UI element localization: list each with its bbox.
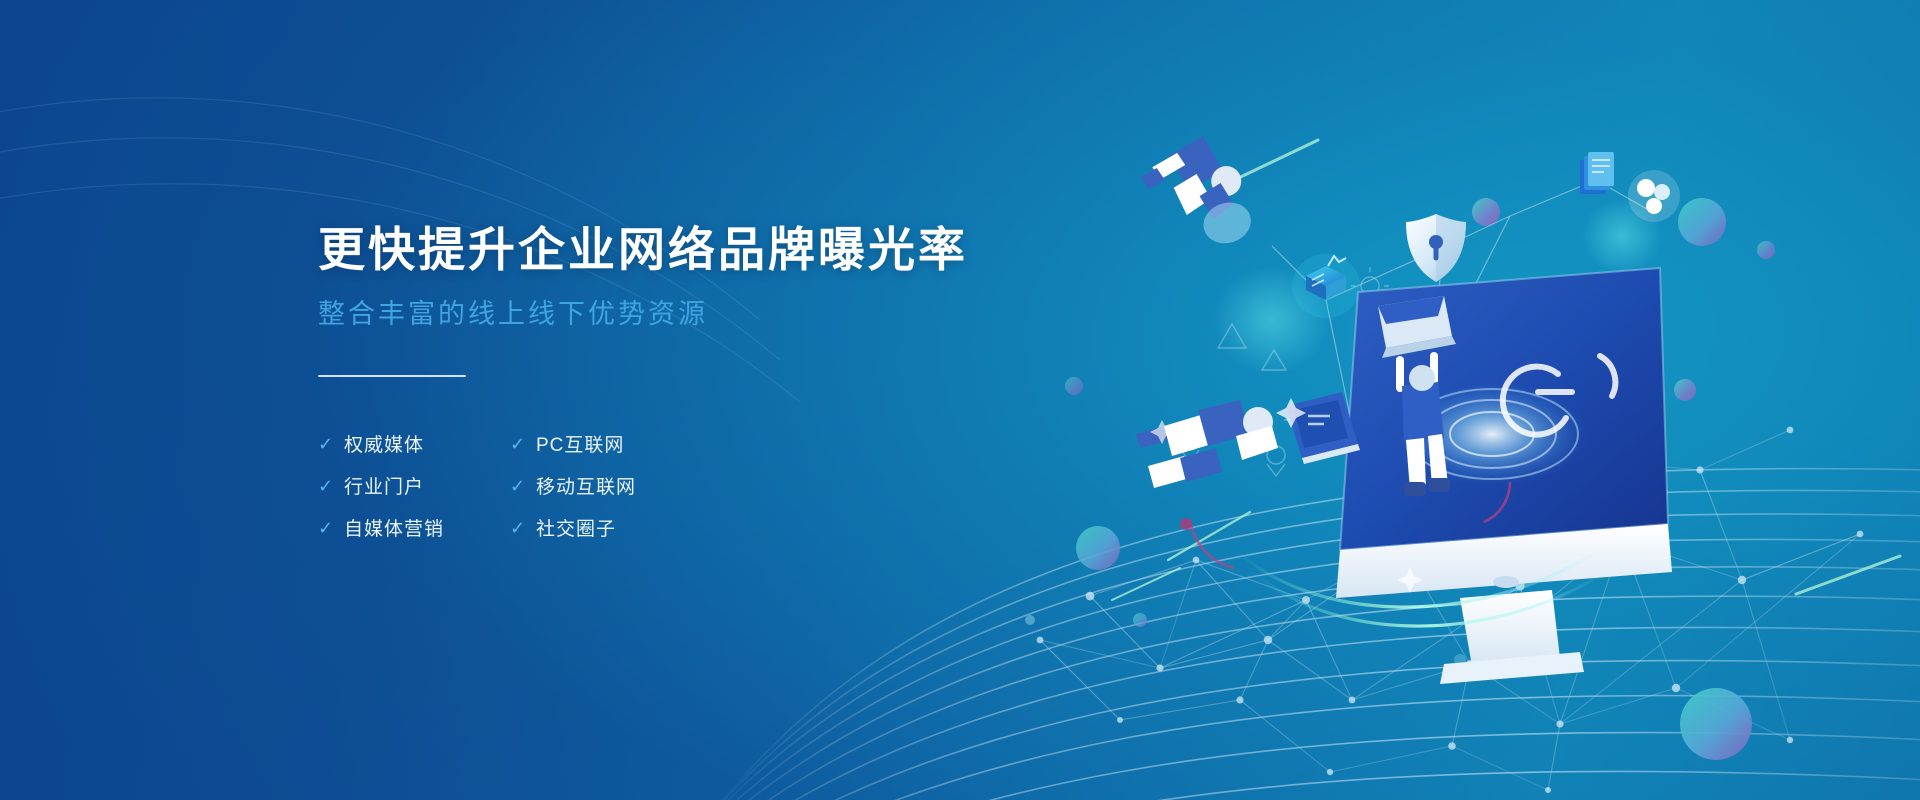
check-icon: ✓: [510, 519, 526, 537]
check-icon: ✓: [318, 519, 334, 537]
feature-item-industry-portal: ✓ 行业门户: [318, 472, 504, 499]
space-network-illustration: [1040, 120, 1760, 680]
feature-label: 自媒体营销: [344, 514, 444, 541]
astronaut-floating-left: [1135, 129, 1259, 263]
shield-lock-icon: [1406, 214, 1466, 282]
feature-item-social-circle: ✓ 社交圈子: [510, 514, 1038, 541]
astronaut-with-tablet: [1136, 392, 1360, 488]
check-icon: ✓: [510, 477, 526, 495]
feature-label: 行业门户: [344, 472, 424, 499]
share-node-icon: [1628, 170, 1680, 222]
page-title: 更快提升企业网络品牌曝光率: [318, 222, 1038, 277]
feature-item-pc-internet: ✓ PC互联网: [510, 430, 1038, 457]
accent-dot: [1180, 518, 1192, 530]
feature-item-authoritative-media: ✓ 权威媒体: [318, 430, 504, 457]
check-icon: ✓: [318, 477, 334, 495]
title-divider: [318, 375, 466, 377]
check-icon: ✓: [510, 435, 526, 453]
hero-copy: 更快提升企业网络品牌曝光率 整合丰富的线上线下优势资源 ✓ 权威媒体 ✓ PC互…: [318, 222, 1038, 549]
hero-banner: 更快提升企业网络品牌曝光率 整合丰富的线上线下优势资源 ✓ 权威媒体 ✓ PC互…: [0, 0, 1920, 800]
feature-item-mobile-internet: ✓ 移动互联网: [510, 472, 1038, 499]
feature-label: 权威媒体: [344, 430, 424, 457]
document-stack-icon: [1580, 152, 1614, 194]
feature-item-self-media-marketing: ✓ 自媒体营销: [318, 514, 504, 541]
feature-label: 社交圈子: [536, 514, 616, 541]
feature-label: PC互联网: [536, 430, 624, 457]
server-icon: [1292, 254, 1360, 318]
feature-label: 移动互联网: [536, 472, 636, 499]
page-subtitle: 整合丰富的线上线下优势资源: [318, 297, 1038, 332]
feature-list: ✓ 权威媒体 ✓ PC互联网 ✓ 行业门户 ✓ 移动互联网 ✓ 自媒体营销 ✓ …: [318, 423, 1038, 549]
check-icon: ✓: [318, 435, 334, 453]
